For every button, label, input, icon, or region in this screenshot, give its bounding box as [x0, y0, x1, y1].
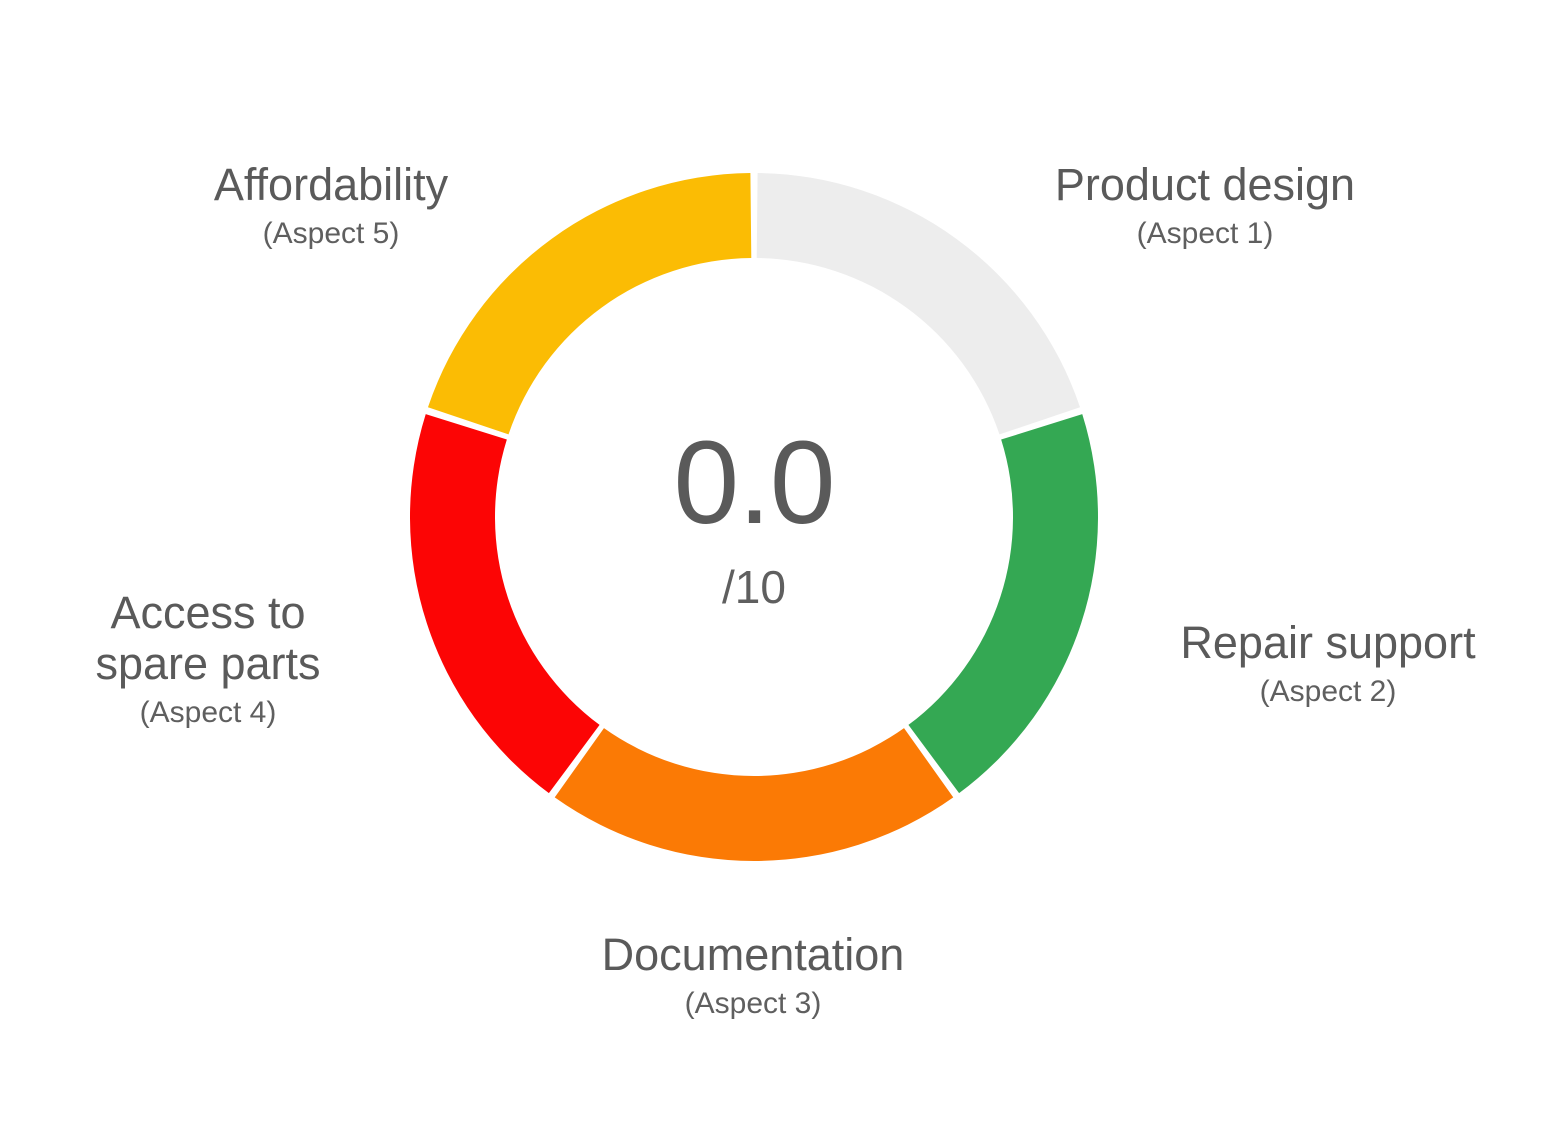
donut-segment-repair-support[interactable] — [908, 414, 1098, 793]
donut-segment-product-design[interactable] — [757, 173, 1080, 434]
repairability-donut-chart: 0.0 /10 Product design (Aspect 1) Repair… — [0, 0, 1547, 1140]
donut-ring-svg — [0, 0, 1547, 1140]
donut-segment-affordability[interactable] — [428, 173, 751, 434]
donut-segment-access-to-spare-parts[interactable] — [410, 414, 600, 793]
donut-segment-documentation[interactable] — [555, 728, 954, 861]
donut-segment-group — [410, 173, 1098, 861]
